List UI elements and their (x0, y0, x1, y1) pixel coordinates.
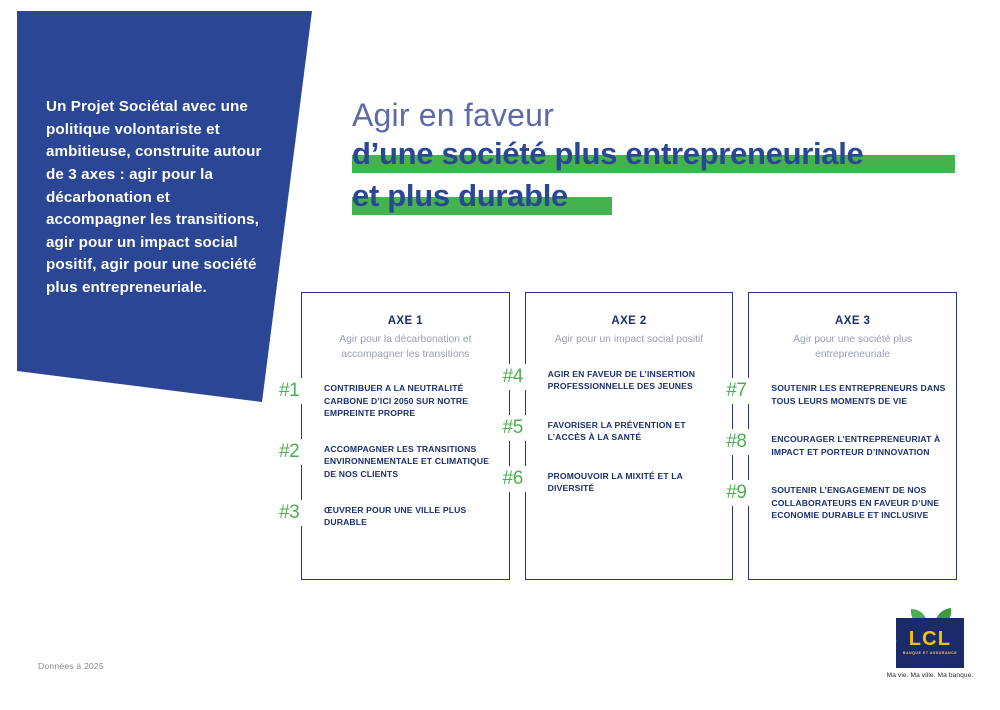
axis-1-items: #1 CONTRIBUER A LA NEUTRALITÉ CARBONE D’… (302, 382, 509, 531)
axis-2-subtitle: Agir pour un impact social positif (526, 333, 733, 348)
item-label: FAVORISER LA PRÉVENTION ET L’ACCÈS À LA … (548, 419, 733, 444)
axis-1-title: AXE 1 (302, 315, 509, 327)
axis-1-header: AXE 1 Agir pour la décarbonation et acco… (302, 293, 509, 362)
axis-2-header: AXE 2 Agir pour un impact social positif (526, 293, 733, 348)
logo-square: LCL BANQUE ET ASSURANCE (896, 618, 964, 668)
item-label: AGIR EN FAVEUR DE L’INSERTION PROFESSION… (548, 368, 733, 393)
logo-tagline: Ma vie. Ma ville. Ma banque. (878, 672, 982, 679)
axis-2-title: AXE 2 (526, 315, 733, 327)
logo-subtitle: BANQUE ET ASSURANCE (896, 651, 964, 655)
title-line-2-row: d’une société plus entrepreneuriale (352, 138, 864, 176)
item-number: #8 (726, 429, 766, 455)
item-label: PROMOUVOIR LA MIXITÉ ET LA DIVERSITÉ (548, 470, 733, 495)
axis-column-1: AXE 1 Agir pour la décarbonation et acco… (301, 292, 510, 580)
item-label: ŒUVRER POUR UNE VILLE PLUS DURABLE (324, 504, 509, 529)
axis-3-title: AXE 3 (749, 315, 956, 327)
item-number: #4 (503, 364, 543, 390)
item-number: #7 (726, 378, 766, 404)
item-number: #5 (503, 415, 543, 441)
list-item[interactable]: #9 SOUTENIR L’ENGAGEMENT DE NOS COLLABOR… (749, 484, 956, 522)
item-label: ENCOURAGER L’ENTREPRENEURIAT À IMPACT ET… (771, 433, 956, 458)
logo-brand: LCL (896, 629, 964, 649)
axis-column-3: AXE 3 Agir pour une société plus entrepr… (748, 292, 957, 580)
page-title: Agir en faveur d’une société plus entrep… (352, 98, 864, 218)
axis-column-2: AXE 2 Agir pour un impact social positif… (525, 292, 734, 580)
axes-container: AXE 1 Agir pour la décarbonation et acco… (301, 292, 957, 580)
lcl-logo: LCL BANQUE ET ASSURANCE Ma vie. Ma ville… (878, 606, 982, 688)
list-item[interactable]: #7 SOUTENIR LES ENTREPRENEURS DANS TOUS … (749, 382, 956, 410)
axis-2-items: #4 AGIR EN FAVEUR DE L’INSERTION PROFESS… (526, 368, 733, 498)
intro-panel-text: Un Projet Sociétal avec une politique vo… (46, 96, 268, 300)
item-number: #6 (503, 466, 543, 492)
item-label: SOUTENIR L’ENGAGEMENT DE NOS COLLABORATE… (771, 484, 956, 522)
list-item[interactable]: #3 ŒUVRER POUR UNE VILLE PLUS DURABLE (302, 504, 509, 532)
item-number: #1 (279, 378, 319, 404)
footer-note: Données à 2025 (38, 661, 104, 671)
list-item[interactable]: #1 CONTRIBUER A LA NEUTRALITÉ CARBONE D’… (302, 382, 509, 420)
axis-3-header: AXE 3 Agir pour une société plus entrepr… (749, 293, 956, 362)
title-line-1: Agir en faveur (352, 98, 864, 134)
item-label: CONTRIBUER A LA NEUTRALITÉ CARBONE D’ICI… (324, 382, 509, 420)
item-number: #3 (279, 500, 319, 526)
list-item[interactable]: #2 ACCOMPAGNER LES TRANSITIONS ENVIRONNE… (302, 443, 509, 481)
title-line-2: d’une société plus entrepreneuriale (352, 138, 864, 169)
title-line-3-row: et plus durable (352, 180, 864, 218)
item-label: ACCOMPAGNER LES TRANSITIONS ENVIRONNEMEN… (324, 443, 509, 481)
axis-3-subtitle: Agir pour une société plus entrepreneuri… (749, 333, 956, 362)
item-number: #9 (726, 480, 766, 506)
list-item[interactable]: #8 ENCOURAGER L’ENTREPRENEURIAT À IMPACT… (749, 433, 956, 461)
list-item[interactable]: #4 AGIR EN FAVEUR DE L’INSERTION PROFESS… (526, 368, 733, 396)
item-label: SOUTENIR LES ENTREPRENEURS DANS TOUS LEU… (771, 382, 956, 407)
title-line-3: et plus durable (352, 180, 568, 211)
axis-1-subtitle: Agir pour la décarbonation et accompagne… (302, 333, 509, 362)
list-item[interactable]: #6 PROMOUVOIR LA MIXITÉ ET LA DIVERSITÉ (526, 470, 733, 498)
item-number: #2 (279, 439, 319, 465)
axis-3-items: #7 SOUTENIR LES ENTREPRENEURS DANS TOUS … (749, 382, 956, 522)
list-item[interactable]: #5 FAVORISER LA PRÉVENTION ET L’ACCÈS À … (526, 419, 733, 447)
